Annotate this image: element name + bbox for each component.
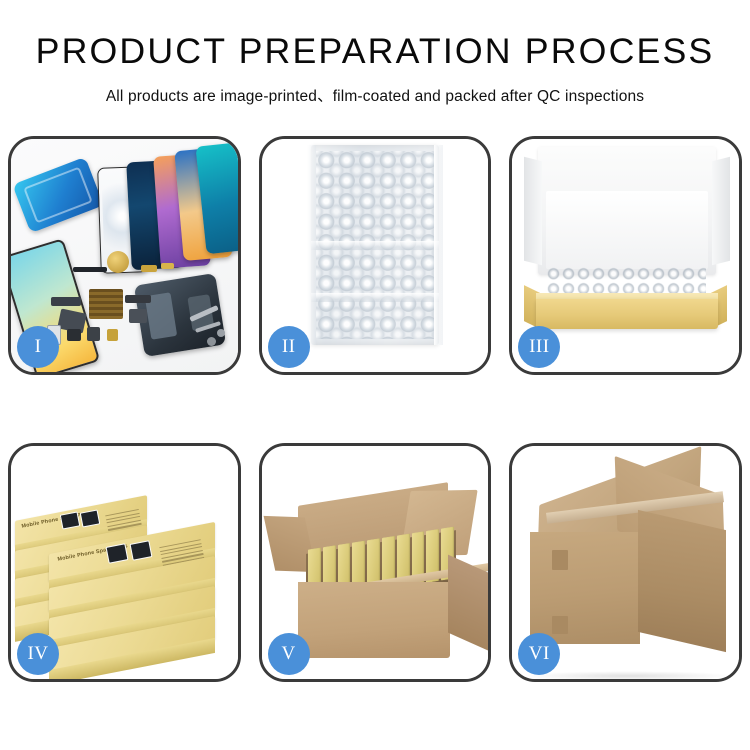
product-preparation-infographic: PRODUCT PREPARATION PROCESS All products… [0, 0, 750, 750]
part-gold-contact-icon [107, 329, 118, 341]
process-step-3: III [509, 136, 742, 375]
part-chip-grid-icon [89, 289, 123, 319]
part-screw-small-icon [217, 329, 225, 337]
carton-flap-tab [552, 616, 568, 634]
process-step-grid: I II [8, 136, 742, 682]
foam-padding-icon [546, 191, 708, 269]
step-badge-5: V [268, 633, 310, 675]
process-step-6: VI [509, 443, 742, 682]
carton-front-face [298, 582, 450, 658]
part-speaker-icon [73, 267, 107, 272]
header: PRODUCT PREPARATION PROCESS All products… [0, 0, 750, 106]
page-subtitle: All products are image-printed、film-coat… [0, 84, 750, 106]
part-flex-icon [161, 263, 174, 269]
retail-box [49, 632, 215, 656]
process-step-1: I [8, 136, 241, 375]
bubble-wrap-pouch-icon [311, 145, 439, 345]
step-badge-4: IV [17, 633, 59, 675]
wrap-edge-left [307, 145, 316, 345]
wrap-seam [311, 241, 439, 250]
page-title: PRODUCT PREPARATION PROCESS [0, 34, 750, 69]
part-module-icon [129, 309, 147, 323]
process-step-2: II [259, 136, 492, 375]
wrap-edge-right [434, 145, 443, 345]
wrap-seam [311, 293, 439, 302]
carton-flap-tab [552, 550, 568, 570]
process-step-4: Mobile Phone Spare Parts [8, 443, 241, 682]
part-button-icon [87, 327, 100, 341]
carton-front-face [530, 532, 640, 644]
carton-side-face [638, 510, 726, 652]
part-ribbon-icon [125, 295, 151, 303]
carton-right-face [448, 555, 489, 652]
step-badge-1: I [17, 326, 59, 368]
process-step-5: V [259, 443, 492, 682]
part-screw-icon [207, 337, 216, 346]
carton-shadow [524, 671, 734, 679]
box-front-panel-icon [536, 299, 718, 329]
part-camera-icon [107, 251, 129, 273]
part-connector-icon [141, 265, 157, 272]
part-vibrator-icon [67, 329, 81, 341]
adhesive-sticker-icon [12, 157, 103, 233]
part-flex-cable-icon [51, 297, 81, 306]
step-badge-2: II [268, 326, 310, 368]
